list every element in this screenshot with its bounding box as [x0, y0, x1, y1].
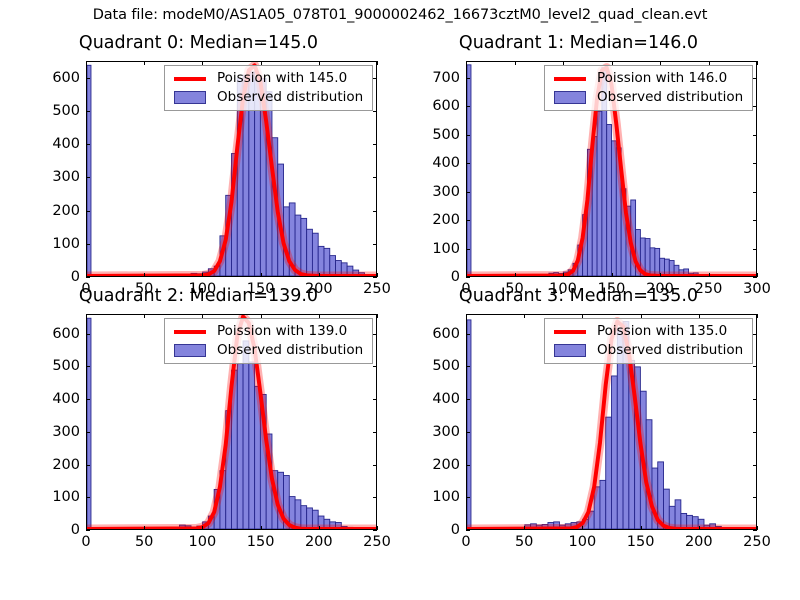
- y-tick-right: [373, 211, 377, 212]
- x-tick: [144, 526, 145, 530]
- histogram-bar: [607, 125, 612, 276]
- legend-entry-poisson[interactable]: Poission with 145.0: [170, 69, 366, 88]
- histogram-bar: [301, 218, 307, 276]
- legend-patch-swatch-icon: [550, 89, 590, 106]
- x-tick: [319, 273, 320, 277]
- y-tick: [86, 244, 90, 245]
- y-tick-label: 200: [42, 457, 80, 473]
- x-tick: [582, 526, 583, 530]
- y-tick-label: 300: [42, 169, 80, 185]
- histogram-bar: [249, 362, 255, 529]
- panel-title-quadrant-0: Quadrant 0: Median=145.0: [20, 33, 377, 53]
- x-tick-label: 50: [135, 281, 153, 297]
- x-tick-label: 100: [189, 281, 217, 297]
- y-tick: [466, 249, 470, 250]
- y-tick: [466, 163, 470, 164]
- legend-entry-poisson[interactable]: Poission with 135.0: [550, 322, 746, 341]
- x-tick: [144, 314, 145, 318]
- y-tick-label: 200: [422, 457, 460, 473]
- y-tick-right: [373, 465, 377, 466]
- y-tick-right: [373, 277, 377, 278]
- y-tick-right: [373, 366, 377, 367]
- x-tick: [377, 273, 378, 277]
- histogram-bar: [243, 341, 249, 529]
- legend-entry-observed[interactable]: Observed distribution: [550, 341, 746, 360]
- y-tick-right: [753, 249, 757, 250]
- x-tick-label: 0: [461, 281, 470, 297]
- histogram-bar: [600, 480, 606, 529]
- x-tick-label: 50: [135, 534, 153, 550]
- x-tick: [524, 314, 525, 318]
- legend-entry-observed[interactable]: Observed distribution: [170, 341, 366, 360]
- x-tick-label: 150: [247, 534, 275, 550]
- panel-title-quadrant-1: Quadrant 1: Median=146.0: [400, 33, 757, 53]
- x-tick: [466, 61, 467, 65]
- y-tick: [86, 211, 90, 212]
- x-tick: [377, 314, 378, 318]
- y-tick-right: [753, 366, 757, 367]
- y-tick-label: 0: [42, 269, 80, 285]
- x-tick: [86, 61, 87, 65]
- legend-quadrant-1[interactable]: Poission with 146.0Observed distribution: [544, 65, 753, 111]
- legend-line-swatch-icon: [170, 323, 210, 340]
- y-tick-label: 600: [422, 98, 460, 114]
- x-tick: [144, 61, 145, 65]
- y-tick: [86, 366, 90, 367]
- y-tick-right: [373, 111, 377, 112]
- y-tick-label: 100: [422, 241, 460, 257]
- legend-line-swatch-icon: [550, 70, 590, 87]
- x-tick-label: 150: [627, 534, 655, 550]
- x-tick-label: 100: [189, 534, 217, 550]
- x-tick: [757, 273, 758, 277]
- histogram-bar: [312, 233, 318, 276]
- y-tick: [466, 78, 470, 79]
- legend-label-poisson: Poission with 135.0: [597, 325, 727, 339]
- y-tick-label: 0: [422, 269, 460, 285]
- x-tick-label: 50: [505, 281, 523, 297]
- y-tick: [86, 78, 90, 79]
- y-tick-right: [753, 530, 757, 531]
- x-tick-label: 150: [247, 281, 275, 297]
- x-tick: [261, 526, 262, 530]
- y-tick-label: 500: [422, 127, 460, 143]
- legend-patch-swatch-icon: [550, 342, 590, 359]
- y-tick-label: 700: [422, 70, 460, 86]
- x-tick-label: 0: [81, 281, 90, 297]
- legend-patch-swatch-icon: [170, 89, 210, 106]
- legend-quadrant-0[interactable]: Poission with 145.0Observed distribution: [164, 65, 373, 111]
- x-tick-label: 250: [363, 534, 391, 550]
- x-tick-label: 250: [743, 534, 771, 550]
- y-tick-label: 500: [42, 358, 80, 374]
- x-tick-label: 100: [569, 534, 597, 550]
- legend-label-observed: Observed distribution: [597, 91, 743, 105]
- y-tick-right: [753, 334, 757, 335]
- y-tick: [466, 106, 470, 107]
- x-tick: [202, 526, 203, 530]
- y-tick-right: [373, 144, 377, 145]
- y-tick-label: 100: [42, 236, 80, 252]
- y-tick-label: 400: [42, 136, 80, 152]
- y-tick-right: [753, 192, 757, 193]
- x-tick: [524, 526, 525, 530]
- y-tick: [86, 497, 90, 498]
- y-tick-right: [753, 106, 757, 107]
- legend-label-poisson: Poission with 146.0: [597, 72, 727, 86]
- x-tick: [660, 273, 661, 277]
- y-tick-right: [753, 465, 757, 466]
- y-tick: [466, 465, 470, 466]
- histogram-bar: [612, 141, 617, 276]
- y-tick: [466, 277, 470, 278]
- histogram-bar: [467, 65, 471, 276]
- legend-label-observed: Observed distribution: [217, 344, 363, 358]
- y-tick: [86, 432, 90, 433]
- y-tick: [86, 277, 90, 278]
- y-tick: [466, 432, 470, 433]
- legend-entry-poisson[interactable]: Poission with 146.0: [550, 69, 746, 88]
- legend-quadrant-2[interactable]: Poission with 139.0Observed distribution: [164, 318, 373, 364]
- y-tick-label: 500: [42, 103, 80, 119]
- y-tick-right: [373, 530, 377, 531]
- y-tick-right: [753, 135, 757, 136]
- legend-label-observed: Observed distribution: [597, 344, 743, 358]
- x-tick: [757, 314, 758, 318]
- y-tick: [86, 399, 90, 400]
- legend-entry-poisson[interactable]: Poission with 139.0: [170, 322, 366, 341]
- y-tick-label: 500: [422, 358, 460, 374]
- y-tick: [466, 192, 470, 193]
- y-tick: [86, 334, 90, 335]
- y-tick-right: [373, 78, 377, 79]
- x-tick: [515, 61, 516, 65]
- x-tick: [261, 273, 262, 277]
- legend-label-poisson: Poission with 145.0: [217, 72, 347, 86]
- y-tick-label: 200: [42, 203, 80, 219]
- y-tick: [466, 220, 470, 221]
- x-tick-label: 200: [685, 534, 713, 550]
- x-tick-label: 150: [598, 281, 626, 297]
- y-tick-label: 400: [422, 155, 460, 171]
- x-tick: [144, 273, 145, 277]
- figure-suptitle: Data file: modeM0/AS1A05_078T01_90000024…: [0, 7, 800, 23]
- x-tick-label: 300: [743, 281, 771, 297]
- y-tick: [466, 366, 470, 367]
- y-tick-right: [753, 220, 757, 221]
- x-tick-label: 0: [81, 534, 90, 550]
- legend-label-observed: Observed distribution: [217, 91, 363, 105]
- y-tick: [86, 144, 90, 145]
- x-tick: [319, 526, 320, 530]
- y-tick-label: 200: [422, 212, 460, 228]
- y-tick-label: 400: [422, 391, 460, 407]
- x-tick: [641, 526, 642, 530]
- legend-label-poisson: Poission with 139.0: [217, 325, 347, 339]
- histogram-bar: [307, 229, 313, 276]
- legend-quadrant-3[interactable]: Poission with 135.0Observed distribution: [544, 318, 753, 364]
- y-tick-label: 600: [42, 70, 80, 86]
- x-tick-label: 200: [305, 534, 333, 550]
- y-tick-label: 600: [422, 326, 460, 342]
- legend-entry-observed[interactable]: Observed distribution: [550, 88, 746, 107]
- y-tick: [466, 497, 470, 498]
- x-tick: [377, 526, 378, 530]
- x-tick-label: 50: [515, 534, 533, 550]
- histogram-bar: [612, 376, 618, 529]
- x-tick-label: 250: [363, 281, 391, 297]
- y-tick: [86, 177, 90, 178]
- y-tick-label: 100: [42, 489, 80, 505]
- y-tick: [466, 530, 470, 531]
- y-tick-label: 300: [422, 424, 460, 440]
- y-tick-label: 400: [42, 391, 80, 407]
- x-tick: [202, 273, 203, 277]
- legend-line-swatch-icon: [170, 70, 210, 87]
- y-tick-right: [373, 177, 377, 178]
- histogram-bar: [606, 417, 612, 529]
- x-tick-label: 100: [549, 281, 577, 297]
- y-tick: [86, 111, 90, 112]
- x-tick-label: 250: [695, 281, 723, 297]
- y-tick-right: [373, 399, 377, 400]
- x-tick: [466, 314, 467, 318]
- x-tick: [699, 526, 700, 530]
- legend-line-swatch-icon: [550, 323, 590, 340]
- y-tick: [466, 334, 470, 335]
- y-tick-label: 300: [42, 424, 80, 440]
- y-tick-right: [373, 497, 377, 498]
- y-tick-label: 300: [422, 184, 460, 200]
- x-tick: [563, 273, 564, 277]
- y-tick-label: 0: [42, 522, 80, 538]
- x-tick: [757, 526, 758, 530]
- y-tick: [86, 465, 90, 466]
- y-tick-label: 100: [422, 489, 460, 505]
- legend-entry-observed[interactable]: Observed distribution: [170, 88, 366, 107]
- x-tick-label: 0: [461, 534, 470, 550]
- x-tick: [377, 61, 378, 65]
- x-tick: [612, 273, 613, 277]
- histogram-bar: [237, 364, 243, 529]
- y-tick-right: [373, 244, 377, 245]
- y-tick-right: [753, 78, 757, 79]
- y-tick: [466, 135, 470, 136]
- y-tick: [466, 399, 470, 400]
- x-tick-label: 200: [646, 281, 674, 297]
- matplotlib-figure: Data file: modeM0/AS1A05_078T01_90000024…: [0, 0, 800, 600]
- x-tick-label: 200: [305, 281, 333, 297]
- y-tick-right: [753, 277, 757, 278]
- y-tick-label: 0: [422, 522, 460, 538]
- y-tick: [86, 530, 90, 531]
- y-tick-right: [753, 399, 757, 400]
- y-tick-right: [373, 432, 377, 433]
- y-tick-right: [753, 497, 757, 498]
- x-tick: [757, 61, 758, 65]
- y-tick-label: 600: [42, 326, 80, 342]
- x-tick: [709, 273, 710, 277]
- x-tick: [515, 273, 516, 277]
- x-tick: [86, 314, 87, 318]
- legend-patch-swatch-icon: [170, 342, 210, 359]
- y-tick-right: [753, 432, 757, 433]
- y-tick-right: [373, 334, 377, 335]
- y-tick-right: [753, 163, 757, 164]
